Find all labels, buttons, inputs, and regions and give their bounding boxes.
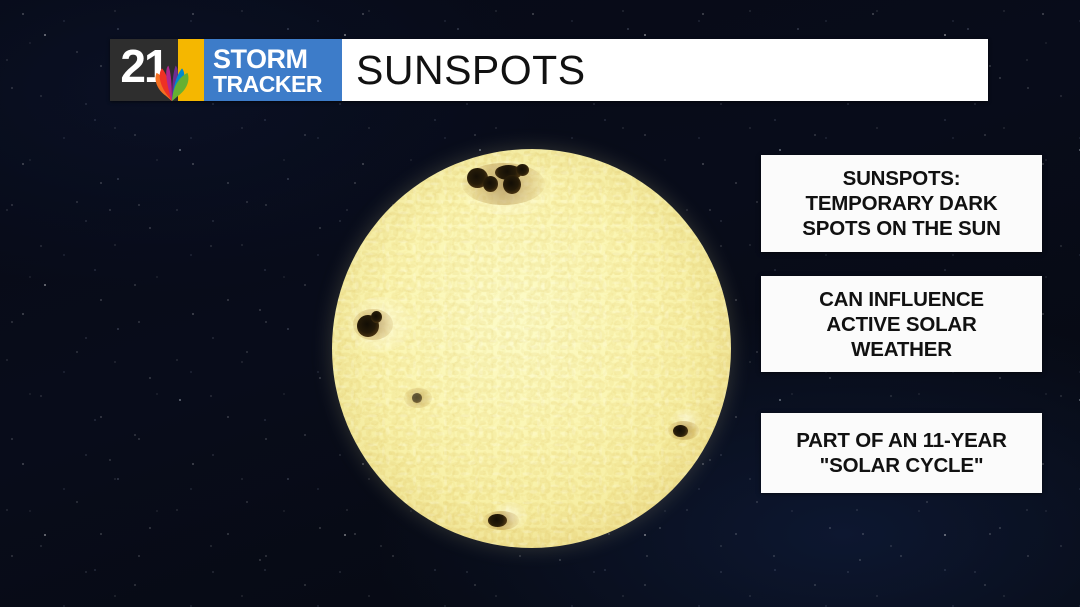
fact-box-influence-text: CAN INFLUENCE ACTIVE SOLAR WEATHER	[813, 287, 990, 362]
fact-box-solar-cycle: PART OF AN 11-YEAR "SOLAR CYCLE"	[761, 413, 1042, 493]
brand-line-storm: STORM	[213, 46, 333, 72]
channel-number-label: 21	[120, 43, 167, 89]
page-title: SUNSPOTS	[356, 50, 586, 91]
title-bar: SUNSPOTS	[342, 39, 988, 101]
fact-box-solar-cycle-text: PART OF AN 11-YEAR "SOLAR CYCLE"	[790, 428, 1013, 478]
station-header-bar: 21 STORM TRACKER SUNSPOTS	[110, 39, 988, 101]
sun-graphic	[332, 149, 731, 548]
fact-box-definition: SUNSPOTS: TEMPORARY DARK SPOTS ON THE SU…	[761, 155, 1042, 252]
channel-logo[interactable]: 21	[110, 39, 178, 101]
brand-line-tracker: TRACKER	[213, 73, 333, 96]
fact-box-influence: CAN INFLUENCE ACTIVE SOLAR WEATHER	[761, 276, 1042, 372]
sun-disc-icon	[332, 149, 731, 548]
fact-box-definition-text: SUNSPOTS: TEMPORARY DARK SPOTS ON THE SU…	[796, 166, 1006, 241]
storm-tracker-brand: STORM TRACKER	[204, 39, 342, 101]
gold-accent-bar	[178, 39, 204, 101]
limb-darkening-overlay	[332, 149, 731, 548]
weather-graphic-screen: 21 STORM TRACKER SUNSPOTS SUNSPOTS: TEMP…	[0, 0, 1080, 607]
